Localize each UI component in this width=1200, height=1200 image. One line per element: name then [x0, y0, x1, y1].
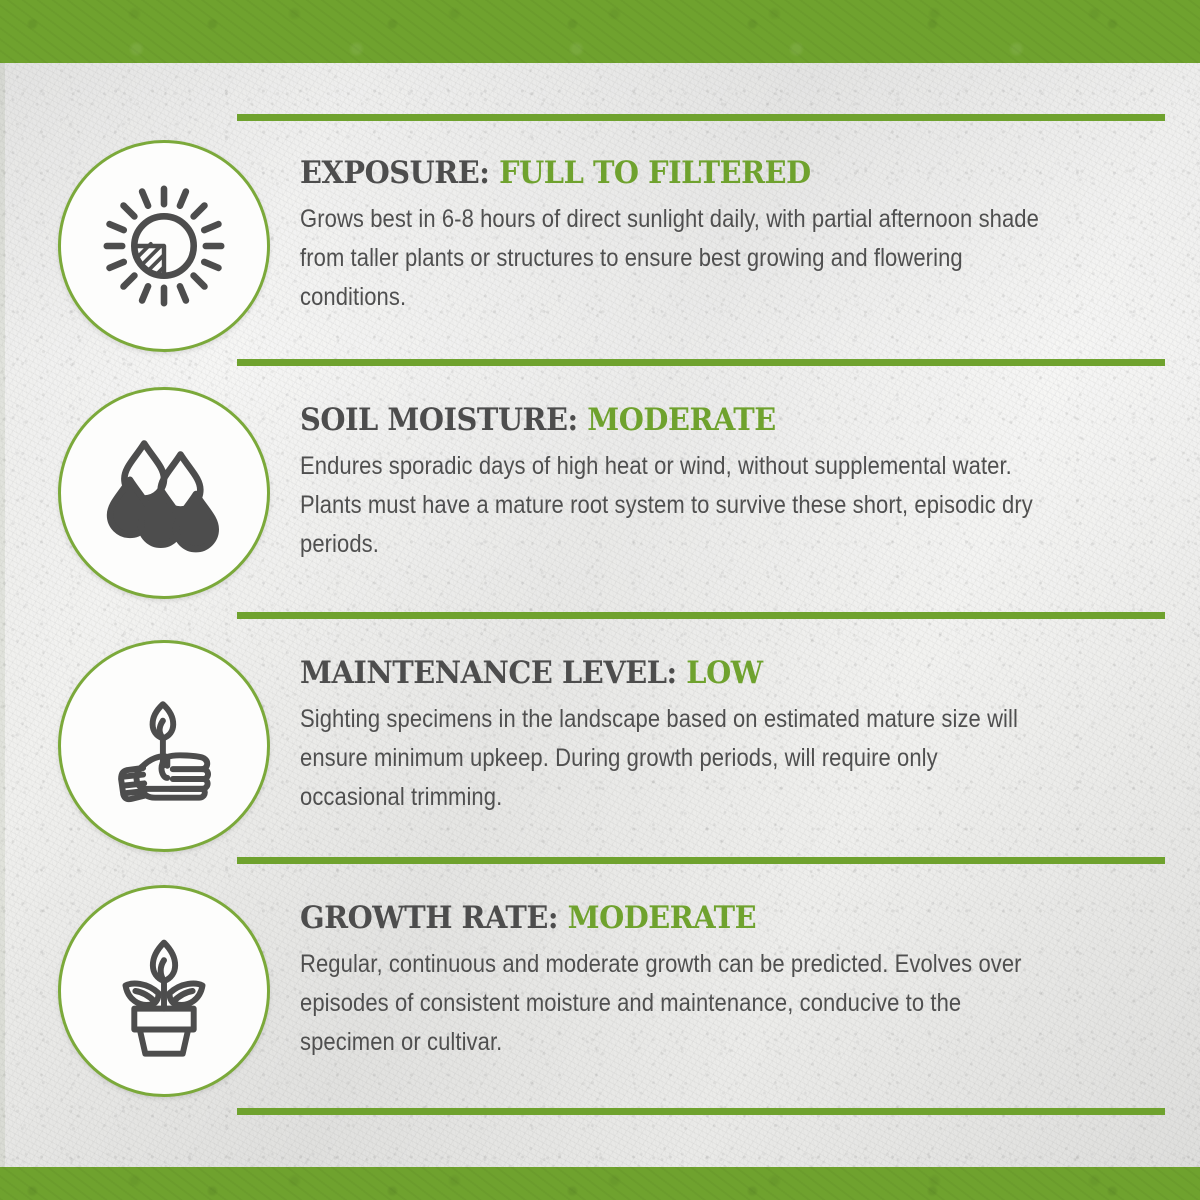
- sun-partial-shade-icon: [58, 140, 270, 352]
- divider-line-1: [237, 114, 1165, 121]
- growth-rate-heading: GROWTH RATE: MODERATE: [300, 900, 1081, 936]
- growth-rate-body: Regular, continuous and moderate growth …: [300, 945, 1039, 1062]
- soil-moisture-body: Endures sporadic days of high heat or wi…: [300, 447, 1039, 564]
- exposure-text: EXPOSURE: FULL TO FILTERED Grows best in…: [300, 155, 1140, 317]
- exposure-body: Grows best in 6-8 hours of direct sunlig…: [300, 200, 1039, 317]
- exposure-heading: EXPOSURE: FULL TO FILTERED: [300, 155, 1081, 191]
- maintenance-level-label: MAINTENANCE LEVEL:: [300, 655, 677, 691]
- divider-line-3: [237, 612, 1165, 619]
- maintenance-level-text: MAINTENANCE LEVEL: LOW Sighting specimen…: [300, 655, 1140, 817]
- care-sections-container: EXPOSURE: FULL TO FILTERED Grows best in…: [0, 63, 1200, 1167]
- maintenance-level-body: Sighting specimens in the landscape base…: [300, 700, 1039, 817]
- divider-line-5: [237, 1108, 1165, 1115]
- top-green-bar: [0, 0, 1200, 63]
- exposure-value: FULL TO FILTERED: [499, 155, 811, 191]
- divider-line-4: [237, 857, 1165, 864]
- soil-moisture-value: MODERATE: [587, 402, 775, 438]
- plant-care-infographic: EXPOSURE: FULL TO FILTERED Grows best in…: [0, 0, 1200, 1200]
- maintenance-level-heading: MAINTENANCE LEVEL: LOW: [300, 655, 1081, 691]
- soil-moisture-label: SOIL MOISTURE:: [300, 402, 578, 438]
- divider-line-2: [237, 359, 1165, 366]
- maintenance-level-value: LOW: [686, 655, 762, 691]
- growth-rate-value: MODERATE: [568, 900, 756, 936]
- exposure-label: EXPOSURE:: [300, 155, 490, 191]
- potted-plant-icon: [58, 885, 270, 1097]
- growth-rate-label: GROWTH RATE:: [300, 900, 558, 936]
- gloved-hand-seedling-icon: [58, 640, 270, 852]
- bottom-green-bar: [0, 1167, 1200, 1200]
- soil-moisture-text: SOIL MOISTURE: MODERATE Endures sporadic…: [300, 402, 1140, 564]
- growth-rate-text: GROWTH RATE: MODERATE Regular, continuou…: [300, 900, 1140, 1062]
- soil-moisture-heading: SOIL MOISTURE: MODERATE: [300, 402, 1081, 438]
- water-drops-icon: [58, 387, 270, 599]
